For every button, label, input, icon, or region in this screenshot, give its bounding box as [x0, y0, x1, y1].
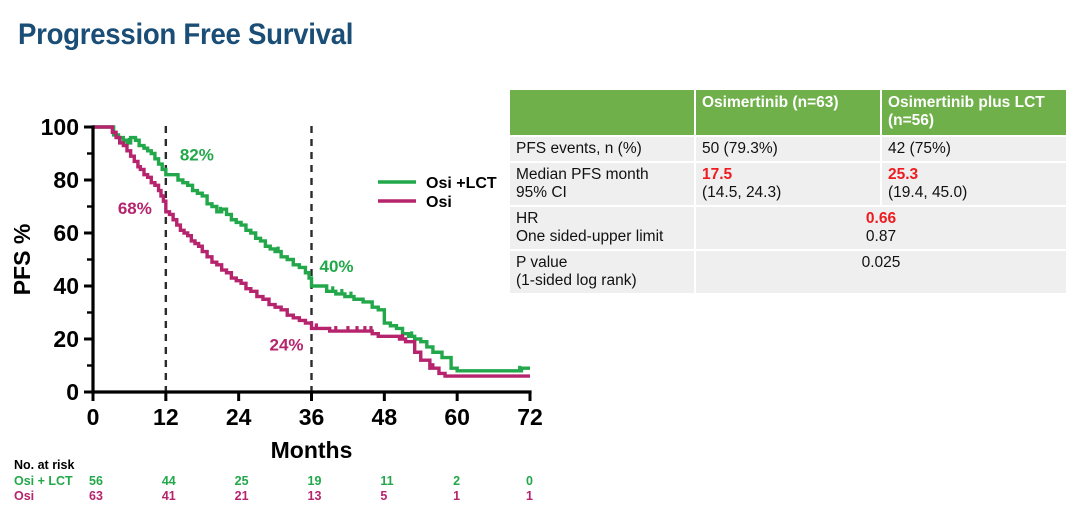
table-cell-line: (1-sided log rank): [516, 272, 688, 290]
y-tick-label: 60: [53, 220, 79, 246]
table-cell-line: One sided-upper limit: [516, 228, 688, 246]
table-cell-line: PFS events, n (%): [516, 140, 688, 158]
risk-value: 0: [526, 474, 533, 489]
results-table: Osimertinib (n=63) Osimertinib plus LCT …: [508, 88, 1068, 295]
table-cell-spanning: 0.025: [696, 251, 1066, 293]
x-tick-label: 12: [153, 404, 179, 430]
table-cell-line: 0.66: [702, 210, 1060, 228]
table-cell-line: 0.87: [702, 228, 1060, 246]
curve-annotation: 68%: [118, 199, 152, 218]
results-table-header-row: Osimertinib (n=63) Osimertinib plus LCT …: [510, 90, 1066, 135]
risk-value: 41: [162, 489, 176, 504]
table-cell-line: HR: [516, 210, 688, 228]
risk-value: 13: [308, 489, 322, 504]
table-cell-value: 17.5(14.5, 24.3): [696, 163, 880, 205]
x-tick-label: 24: [226, 404, 252, 430]
risk-value: 56: [89, 474, 103, 489]
risk-value: 44: [162, 474, 176, 489]
results-header-osimertinib: Osimertinib (n=63): [696, 90, 880, 135]
table-cell-line: (19.4, 45.0): [888, 184, 1060, 202]
x-tick-label: 36: [299, 404, 325, 430]
risk-row: Osi + LCT564425191120: [14, 474, 534, 489]
y-tick-label: 40: [53, 273, 79, 299]
y-tick-label: 80: [53, 167, 79, 193]
table-cell-line: 95% CI: [516, 184, 688, 202]
curve-annotation: 40%: [320, 257, 354, 276]
risk-row-label: Osi: [14, 489, 34, 504]
table-row: HROne sided-upper limit0.660.87: [510, 207, 1066, 249]
risk-row-label: Osi + LCT: [14, 474, 73, 489]
x-tick-label: 72: [517, 404, 543, 430]
table-row: P value(1-sided log rank)0.025: [510, 251, 1066, 293]
table-row: PFS events, n (%)50 (79.3%)42 (75%): [510, 137, 1066, 161]
table-cell-value: 50 (79.3%): [696, 137, 880, 161]
table-cell-line: 25.3: [888, 166, 1060, 184]
table-cell-line: 17.5: [702, 166, 874, 184]
table-cell-line: (14.5, 24.3): [702, 184, 874, 202]
x-tick-label: 0: [87, 404, 100, 430]
table-cell-line: 42 (75%): [888, 140, 1060, 158]
x-tick-label: 60: [444, 404, 470, 430]
table-cell-spanning: 0.660.87: [696, 207, 1066, 249]
curve-annotation: 24%: [270, 335, 304, 354]
table-cell-line: Median PFS month: [516, 166, 688, 184]
table-cell-value: 25.3(19.4, 45.0): [882, 163, 1066, 205]
table-row-label: Median PFS month95% CI: [510, 163, 694, 205]
y-tick-label: 20: [53, 326, 79, 352]
table-cell-value: 42 (75%): [882, 137, 1066, 161]
chart-tick-labels: 0204060801000122436486072MonthsPFS %: [9, 114, 543, 463]
chart-legend: Osi +LCTOsi: [378, 175, 497, 211]
risk-value: 11: [380, 474, 393, 489]
y-tick-label: 100: [41, 114, 79, 140]
results-header-osimertinib-plus-lct-line1: Osimertinib plus LCT: [888, 94, 1060, 112]
risk-value: 21: [235, 489, 249, 504]
risk-row: Osi63412113511: [14, 489, 534, 504]
risk-value: 2: [453, 474, 460, 489]
table-row-label: P value(1-sided log rank): [510, 251, 694, 293]
table-cell-line: 50 (79.3%): [702, 140, 874, 158]
y-axis-title: PFS %: [9, 224, 35, 296]
x-tick-label: 48: [372, 404, 398, 430]
results-header-blank: [510, 90, 694, 135]
risk-value: 5: [380, 489, 387, 504]
legend-label: Osi: [426, 194, 452, 211]
risk-value: 1: [526, 489, 533, 504]
legend-label: Osi +LCT: [426, 175, 497, 192]
number-at-risk-table: No. at risk Osi + LCT564425191120Osi6341…: [14, 458, 534, 504]
chart-censor-marks: [129, 138, 519, 371]
y-tick-label: 0: [66, 379, 79, 405]
risk-value: 1: [453, 489, 460, 504]
table-cell-line: 0.025: [702, 254, 1060, 272]
table-row: Median PFS month95% CI17.5(14.5, 24.3)25…: [510, 163, 1066, 205]
curve-annotation: 82%: [180, 146, 214, 165]
number-at-risk-heading: No. at risk: [14, 458, 534, 473]
number-at-risk-rows: Osi + LCT564425191120Osi63412113511: [14, 474, 534, 504]
table-row-label: HROne sided-upper limit: [510, 207, 694, 249]
results-header-osimertinib-plus-lct-line2: (n=56): [888, 112, 1060, 130]
results-header-osimertinib-plus-lct: Osimertinib plus LCT (n=56): [882, 90, 1066, 135]
page-title: Progression Free Survival: [18, 18, 353, 52]
results-table-head: Osimertinib (n=63) Osimertinib plus LCT …: [510, 90, 1066, 135]
chart-axes: [84, 127, 530, 401]
risk-value: 63: [89, 489, 103, 504]
table-row-label: PFS events, n (%): [510, 137, 694, 161]
risk-value: 25: [235, 474, 249, 489]
table-cell-line: P value: [516, 254, 688, 272]
chart-annotations: 82%68%40%24%: [118, 146, 354, 355]
results-table-body: PFS events, n (%)50 (79.3%)42 (75%)Media…: [510, 137, 1066, 293]
risk-value: 19: [308, 474, 322, 489]
